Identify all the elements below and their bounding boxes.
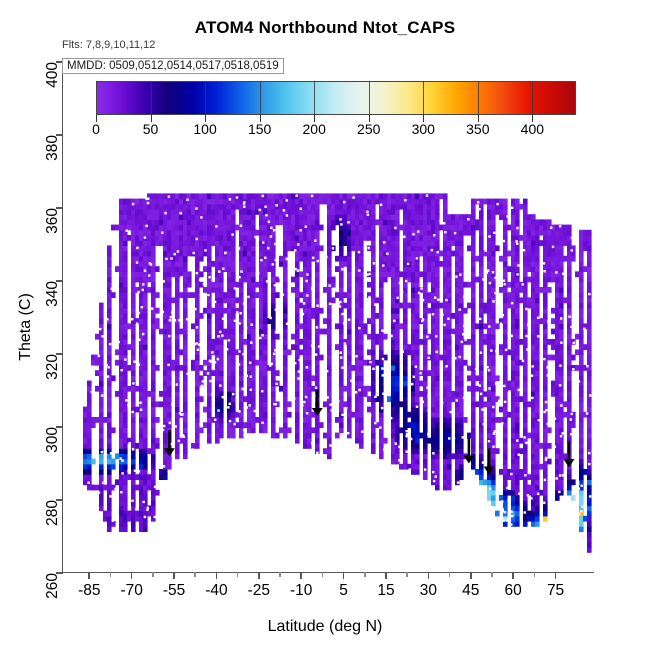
x-axis-tick [88, 572, 90, 579]
x-axis-ticklabel: -55 [163, 582, 185, 600]
colorbar-ticklabel: 200 [302, 121, 325, 137]
x-axis-ticklabel: -25 [248, 582, 270, 600]
colorbar-separator [260, 81, 261, 115]
x-axis-tick [216, 572, 218, 579]
colorbar-ticklabel: 350 [466, 121, 489, 137]
colorbar-separator [205, 81, 206, 115]
dates-annotation: MMDD: 0509,0512,0514,0517,0518,0519 [62, 58, 284, 74]
x-axis-tick [555, 572, 557, 579]
colorbar-ticklabels: 050100150200250300350400 [96, 121, 576, 139]
colorbar-ticklabel: 100 [193, 121, 216, 137]
x-axis-tick [428, 572, 430, 579]
x-axis-ticklabel: -40 [205, 582, 227, 600]
colorbar-separator [532, 81, 533, 115]
chart-title: ATOM4 Northbound Ntot_CAPS [0, 18, 650, 38]
y-axis-ticklabel: 360 [44, 208, 62, 234]
x-axis-tick [131, 572, 133, 579]
y-axis-ticklabel: 300 [44, 427, 62, 453]
x-axis-ticklabel: 5 [339, 582, 348, 600]
x-axis-ticklabel: -85 [78, 582, 100, 600]
colorbar-ticklabel: 50 [143, 121, 159, 137]
colorbar-separator [478, 81, 479, 115]
colorbar-separator [314, 81, 315, 115]
y-axis-ticklabel: 400 [44, 62, 62, 88]
y-axis-title: Theta (C) [17, 257, 35, 397]
colorbar-ticklabel: 0 [92, 121, 100, 137]
colorbar-ticklabel: 150 [248, 121, 271, 137]
y-axis-ticklabel: 280 [44, 500, 62, 526]
y-axis-ticklabel: 380 [44, 135, 62, 161]
colorbar-ticklabel: 300 [412, 121, 435, 137]
colorbar-separators [96, 81, 576, 115]
y-axis-ticklabel: 320 [44, 354, 62, 380]
x-axis-tick [258, 572, 260, 579]
x-axis-ticklabel: 75 [547, 582, 564, 600]
x-axis-ticklabel: -10 [290, 582, 312, 600]
colorbar-ticklabel: 250 [357, 121, 380, 137]
colorbar: 050100150200250300350400 [96, 81, 576, 115]
colorbar-separator [151, 81, 152, 115]
x-axis-tick [300, 572, 302, 579]
x-axis-tick [173, 572, 175, 579]
colorbar-separator [369, 81, 370, 115]
x-axis-tick [512, 572, 514, 579]
x-axis-tick [385, 572, 387, 579]
colorbar-ticklabel: 400 [521, 121, 544, 137]
x-axis-ticklabel: 30 [420, 582, 437, 600]
x-axis-ticklabel: -70 [120, 582, 142, 600]
figure-root: ATOM4 Northbound Ntot_CAPS Flts: 7,8,9,1… [0, 0, 650, 650]
x-axis-ticklabel: 15 [377, 582, 394, 600]
y-axis-ticklabel: 340 [44, 281, 62, 307]
x-axis-ticklabel: 60 [505, 582, 522, 600]
y-axis-ticklabel: 260 [44, 573, 62, 599]
x-axis-ticklabel: 45 [462, 582, 479, 600]
x-axis-title: Latitude (deg N) [0, 618, 650, 636]
x-axis-tick [343, 572, 345, 579]
x-axis-tick [470, 572, 472, 579]
flights-annotation: Flts: 7,8,9,10,11,12 [62, 39, 155, 51]
colorbar-separator [423, 81, 424, 115]
